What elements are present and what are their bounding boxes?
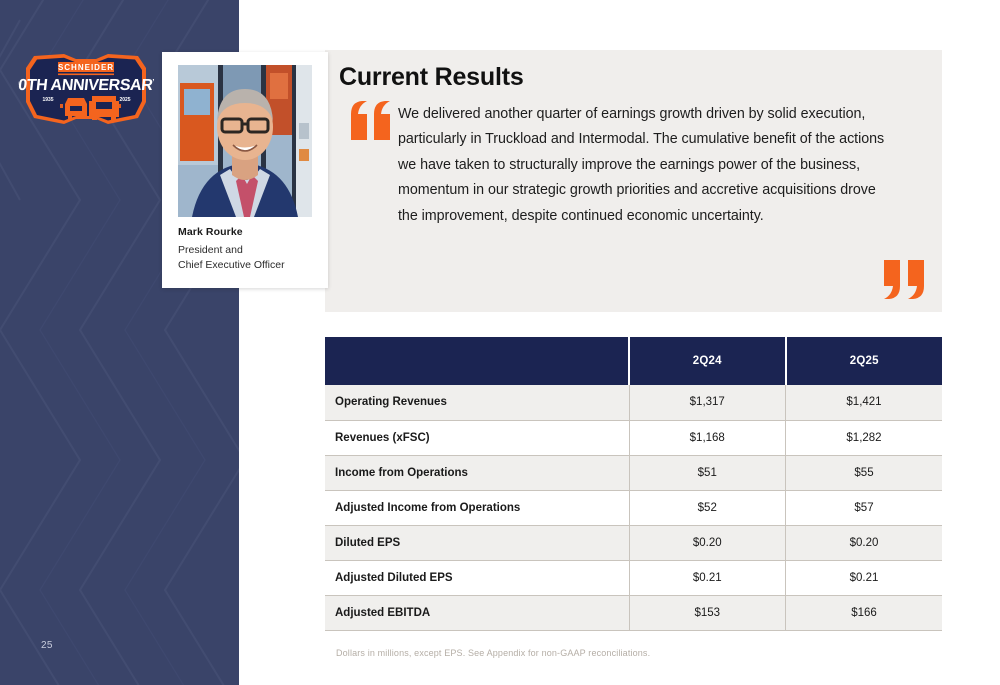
table-row: Revenues (xFSC) $1,168 $1,282: [325, 420, 942, 455]
row-label: Adjusted EBITDA: [325, 595, 629, 630]
current-results-panel: Current Results We delivered another qua…: [325, 50, 942, 312]
row-value-2q24: $1,168: [629, 420, 786, 455]
svg-text:1935: 1935: [42, 97, 53, 103]
table-header-2q24: 2Q24: [629, 337, 786, 385]
executive-name: Mark Rourke: [178, 226, 243, 238]
svg-text:90TH ANNIVERSARY: 90TH ANNIVERSARY: [18, 76, 154, 94]
results-table: 2Q24 2Q25 Operating Revenues $1,317 $1,4…: [325, 337, 942, 631]
table-footnote: Dollars in millions, except EPS. See App…: [336, 648, 650, 658]
schneider-90th-anniversary-logo: SCHNEIDER 90TH ANNIVERSARY 1935 2025: [18, 46, 154, 134]
page-number: 25: [41, 640, 53, 651]
row-value-2q24: $1,317: [629, 385, 786, 420]
row-value-2q25: $57: [786, 490, 943, 525]
table-header-blank: [325, 337, 629, 385]
row-label: Revenues (xFSC): [325, 420, 629, 455]
row-value-2q25: $1,421: [786, 385, 943, 420]
executive-quote: We delivered another quarter of earnings…: [398, 102, 898, 229]
row-value-2q25: $55: [786, 455, 943, 490]
table-row: Adjusted EBITDA $153 $166: [325, 595, 942, 630]
quote-open-icon: [349, 100, 394, 142]
row-value-2q24: $153: [629, 595, 786, 630]
table-row: Diluted EPS $0.20 $0.20: [325, 525, 942, 560]
table-row: Operating Revenues $1,317 $1,421: [325, 385, 942, 420]
table-body: Operating Revenues $1,317 $1,421 Revenue…: [325, 385, 942, 630]
row-value-2q24: $52: [629, 490, 786, 525]
svg-text:2025: 2025: [119, 97, 130, 103]
row-label: Operating Revenues: [325, 385, 629, 420]
row-value-2q25: $0.21: [786, 560, 943, 595]
svg-text:SCHNEIDER: SCHNEIDER: [58, 63, 114, 72]
page-title: Current Results: [339, 63, 524, 92]
row-value-2q24: $51: [629, 455, 786, 490]
row-value-2q25: $0.20: [786, 525, 943, 560]
table-row: Income from Operations $51 $55: [325, 455, 942, 490]
row-label: Income from Operations: [325, 455, 629, 490]
table-header-2q25: 2Q25: [786, 337, 943, 385]
table-header-row: 2Q24 2Q25: [325, 337, 942, 385]
row-value-2q25: $1,282: [786, 420, 943, 455]
executive-photo: [178, 65, 312, 217]
table-row: Adjusted Diluted EPS $0.21 $0.21: [325, 560, 942, 595]
row-value-2q24: $0.20: [629, 525, 786, 560]
row-label: Diluted EPS: [325, 525, 629, 560]
executive-profile-card: Mark Rourke President and Chief Executiv…: [162, 52, 328, 288]
table-row: Adjusted Income from Operations $52 $57: [325, 490, 942, 525]
row-value-2q25: $166: [786, 595, 943, 630]
quote-close-icon: [880, 258, 928, 300]
row-value-2q24: $0.21: [629, 560, 786, 595]
row-label: Adjusted Diluted EPS: [325, 560, 629, 595]
executive-title: President and Chief Executive Officer: [178, 243, 285, 273]
row-label: Adjusted Income from Operations: [325, 490, 629, 525]
